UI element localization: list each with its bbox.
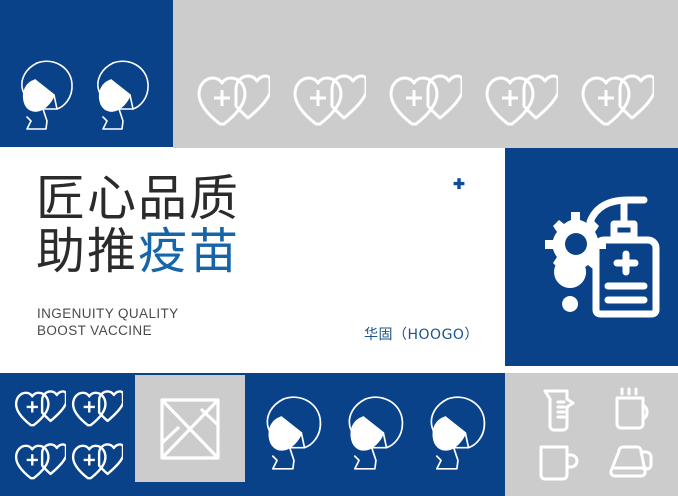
double-heart-plus-icon xyxy=(388,73,462,129)
subtitle-block: INGENUITY QUALITY BOOST VACCINE xyxy=(37,305,179,339)
top-hearts-group xyxy=(196,70,668,132)
bottom-vessels-group xyxy=(522,384,666,488)
measuring-beaker-icon xyxy=(536,387,580,433)
steaming-cup-icon xyxy=(608,387,654,433)
masked-head-icon xyxy=(422,390,496,480)
sanitizer-group xyxy=(518,190,666,330)
double-heart-plus-icon xyxy=(14,388,66,430)
broken-image-icon xyxy=(159,397,221,461)
headline-line-2: 助推疫苗 xyxy=(36,225,396,278)
kettle-icon xyxy=(607,442,655,484)
image-placeholder-box xyxy=(135,375,245,482)
double-heart-plus-icon xyxy=(196,73,270,129)
headline-line-2-accent: 疫苗 xyxy=(138,223,240,280)
masked-head-icon xyxy=(13,55,83,139)
double-heart-plus-icon xyxy=(580,73,654,129)
masked-head-icon xyxy=(258,390,332,480)
bottom-hearts-group xyxy=(12,383,124,487)
headline-block: 匠心品质 助推疫苗 xyxy=(36,172,396,278)
sanitizer-bottle-icon xyxy=(590,200,656,314)
headline-line-1: 匠心品质 xyxy=(36,172,396,225)
subtitle-line-2: BOOST VACCINE xyxy=(37,322,179,339)
double-heart-plus-icon xyxy=(14,441,66,483)
poster-canvas: 匠心品质 助推疫苗 INGENUITY QUALITY BOOST VACCIN… xyxy=(0,0,678,496)
top-masked-heads-group xyxy=(10,52,162,142)
double-heart-plus-icon xyxy=(71,441,123,483)
double-heart-plus-icon xyxy=(292,73,366,129)
mug-icon xyxy=(535,442,581,484)
double-heart-plus-icon xyxy=(71,388,123,430)
double-heart-plus-icon xyxy=(484,73,558,129)
plus-icon xyxy=(451,177,467,193)
masked-head-icon xyxy=(340,390,414,480)
bottom-masked-heads-group xyxy=(258,388,498,482)
headline-line-2-plain: 助推 xyxy=(36,223,138,280)
masked-head-icon xyxy=(89,55,159,139)
brand-label: 华固（HOOGO） xyxy=(364,324,479,344)
subtitle-line-1: INGENUITY QUALITY xyxy=(37,305,179,322)
